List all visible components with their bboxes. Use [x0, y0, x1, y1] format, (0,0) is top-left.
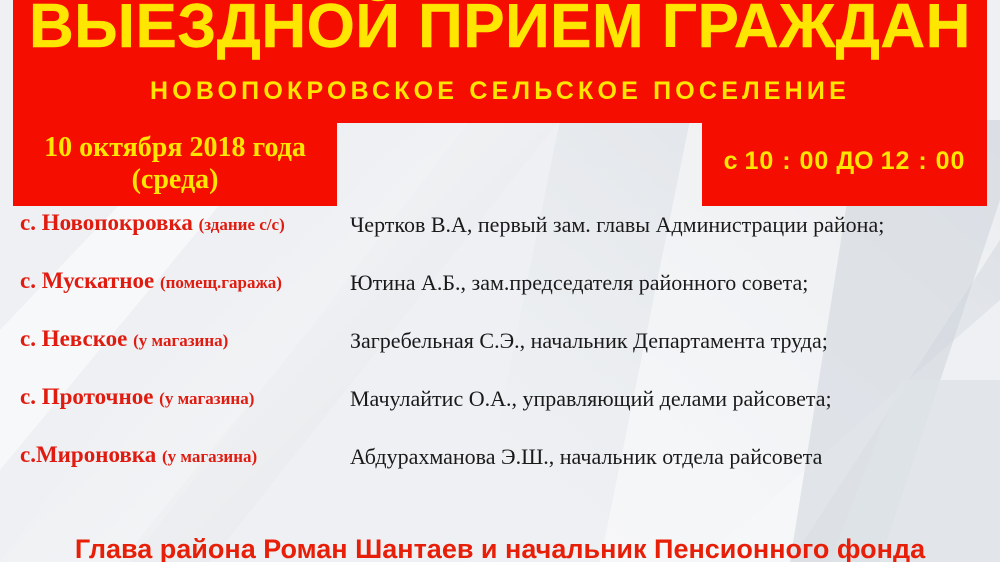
location-note: (у магазина): [133, 331, 228, 350]
date-block: 10 октября 2018 года (среда): [13, 123, 337, 206]
official-cell: Ютина А.Б., зам.председателя районного с…: [350, 270, 808, 296]
location-note: (помещ.гаража): [160, 273, 282, 292]
date-line-1: 10 октября 2018 года: [44, 132, 306, 163]
location-note: (здание с/с): [199, 215, 285, 234]
location-note: (у магазина): [159, 389, 254, 408]
time-from-value: 10 : 00: [744, 147, 829, 176]
table-row: с. Новопокровка (здание с/с) Чертков В.А…: [13, 210, 987, 268]
left-border-strip: [0, 0, 13, 562]
location-note: (у магазина): [162, 447, 257, 466]
right-border-strip: [987, 0, 1000, 562]
location-cell: с. Новопокровка (здание с/с): [20, 210, 350, 236]
schedule-table: с. Новопокровка (здание с/с) Чертков В.А…: [13, 210, 987, 500]
location-cell: с.Мироновка (у магазина): [20, 442, 350, 468]
footer-note: Глава района Роман Шантаев и начальник П…: [13, 533, 987, 562]
page-title: ВЫЕЗДНОЙ ПРИЕМ ГРАЖДАН: [13, 0, 987, 64]
table-row: с. Мускатное (помещ.гаража) Ютина А.Б., …: [13, 268, 987, 326]
header-banner: ВЫЕЗДНОЙ ПРИЕМ ГРАЖДАН НОВОПОКРОВСКОЕ СЕ…: [13, 0, 987, 123]
location-name: с. Проточное: [20, 384, 159, 409]
date-line-2: (среда): [13, 164, 337, 196]
location-cell: с. Невское (у магазина): [20, 326, 350, 352]
location-name: с. Невское: [20, 326, 133, 351]
official-cell: Абдурахманова Э.Ш., начальник отдела рай…: [350, 444, 822, 470]
page-subtitle: НОВОПОКРОВСКОЕ СЕЛЬСКОЕ ПОСЕЛЕНИЕ: [13, 76, 987, 106]
table-row: с.Мироновка (у магазина) Абдурахманова Э…: [13, 442, 987, 500]
location-cell: с. Мускатное (помещ.гаража): [20, 268, 350, 294]
time-from-label: с: [724, 147, 738, 176]
location-name: с.Мироновка: [20, 442, 162, 467]
official-cell: Загребельная С.Э., начальник Департамент…: [350, 328, 828, 354]
location-name: с. Мускатное: [20, 268, 160, 293]
official-cell: Чертков В.А, первый зам. главы Администр…: [350, 212, 884, 238]
time-to-label: ДО: [836, 147, 873, 176]
poster-announcement: ВЫЕЗДНОЙ ПРИЕМ ГРАЖДАН НОВОПОКРОВСКОЕ СЕ…: [0, 0, 1000, 562]
table-row: с. Проточное (у магазина) Мачулайтис О.А…: [13, 384, 987, 442]
official-cell: Мачулайтис О.А., управляющий делами райс…: [350, 386, 832, 412]
location-cell: с. Проточное (у магазина): [20, 384, 350, 410]
location-name: с. Новопокровка: [20, 210, 199, 235]
time-block: с 10 : 00 ДО 12 : 00: [702, 123, 987, 206]
time-to-value: 12 : 00: [881, 147, 966, 176]
table-row: с. Невское (у магазина) Загребельная С.Э…: [13, 326, 987, 384]
